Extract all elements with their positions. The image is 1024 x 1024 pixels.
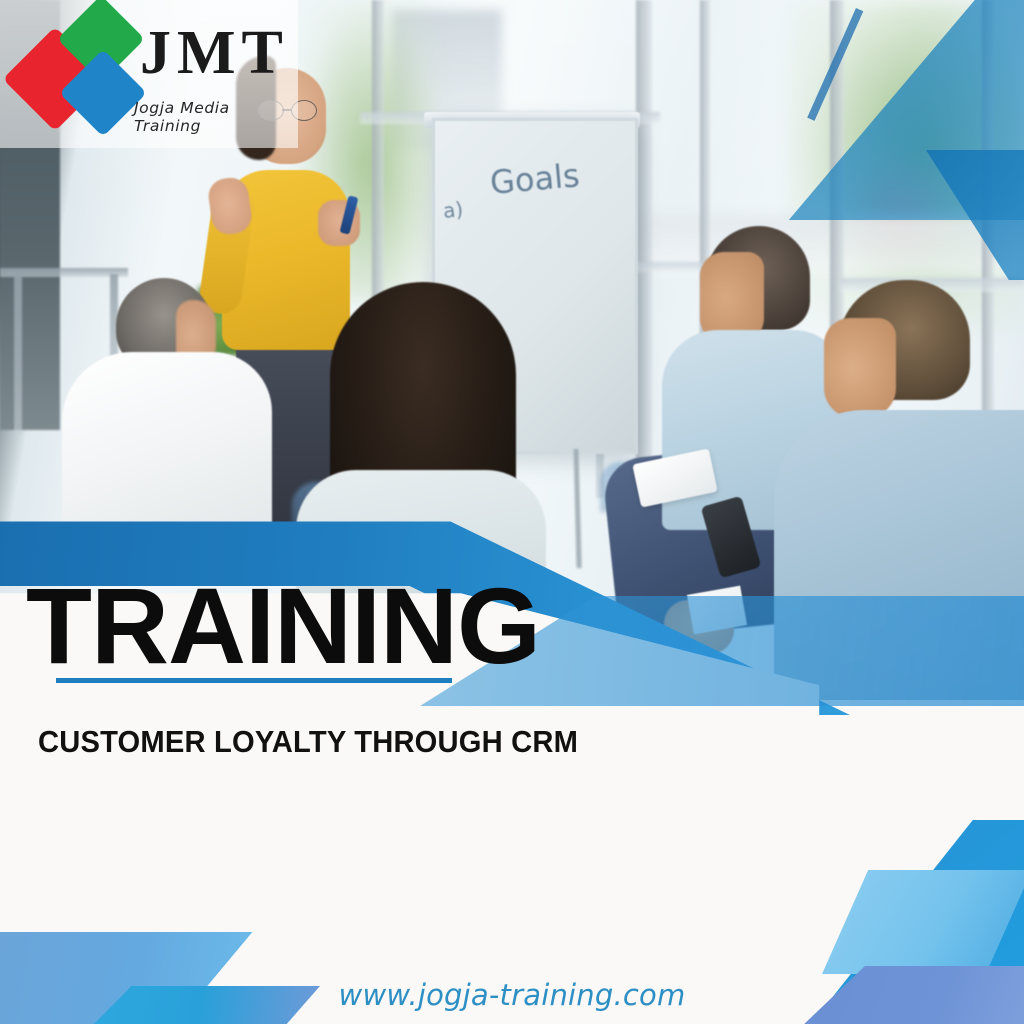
window-mullion xyxy=(636,0,652,470)
attendee-denim-face xyxy=(824,318,896,418)
railing-post xyxy=(14,274,22,434)
title-underline xyxy=(56,678,452,683)
logo-wordmark: JMT xyxy=(140,22,289,84)
flipchart-text: Goals xyxy=(489,156,582,202)
page-title: TRAINING xyxy=(26,572,540,680)
website-url[interactable]: www.jogja-training.com xyxy=(0,978,1024,1012)
page-subtitle: CUSTOMER LOYALTY THROUGH CRM xyxy=(38,724,578,760)
logo-tagline: Jogja Media Training xyxy=(134,99,300,135)
flipchart-bullet: a) xyxy=(442,197,464,223)
training-poster: a) Goals xyxy=(0,0,1024,1024)
brand-logo[interactable]: JMT Jogja Media Training xyxy=(0,0,300,150)
